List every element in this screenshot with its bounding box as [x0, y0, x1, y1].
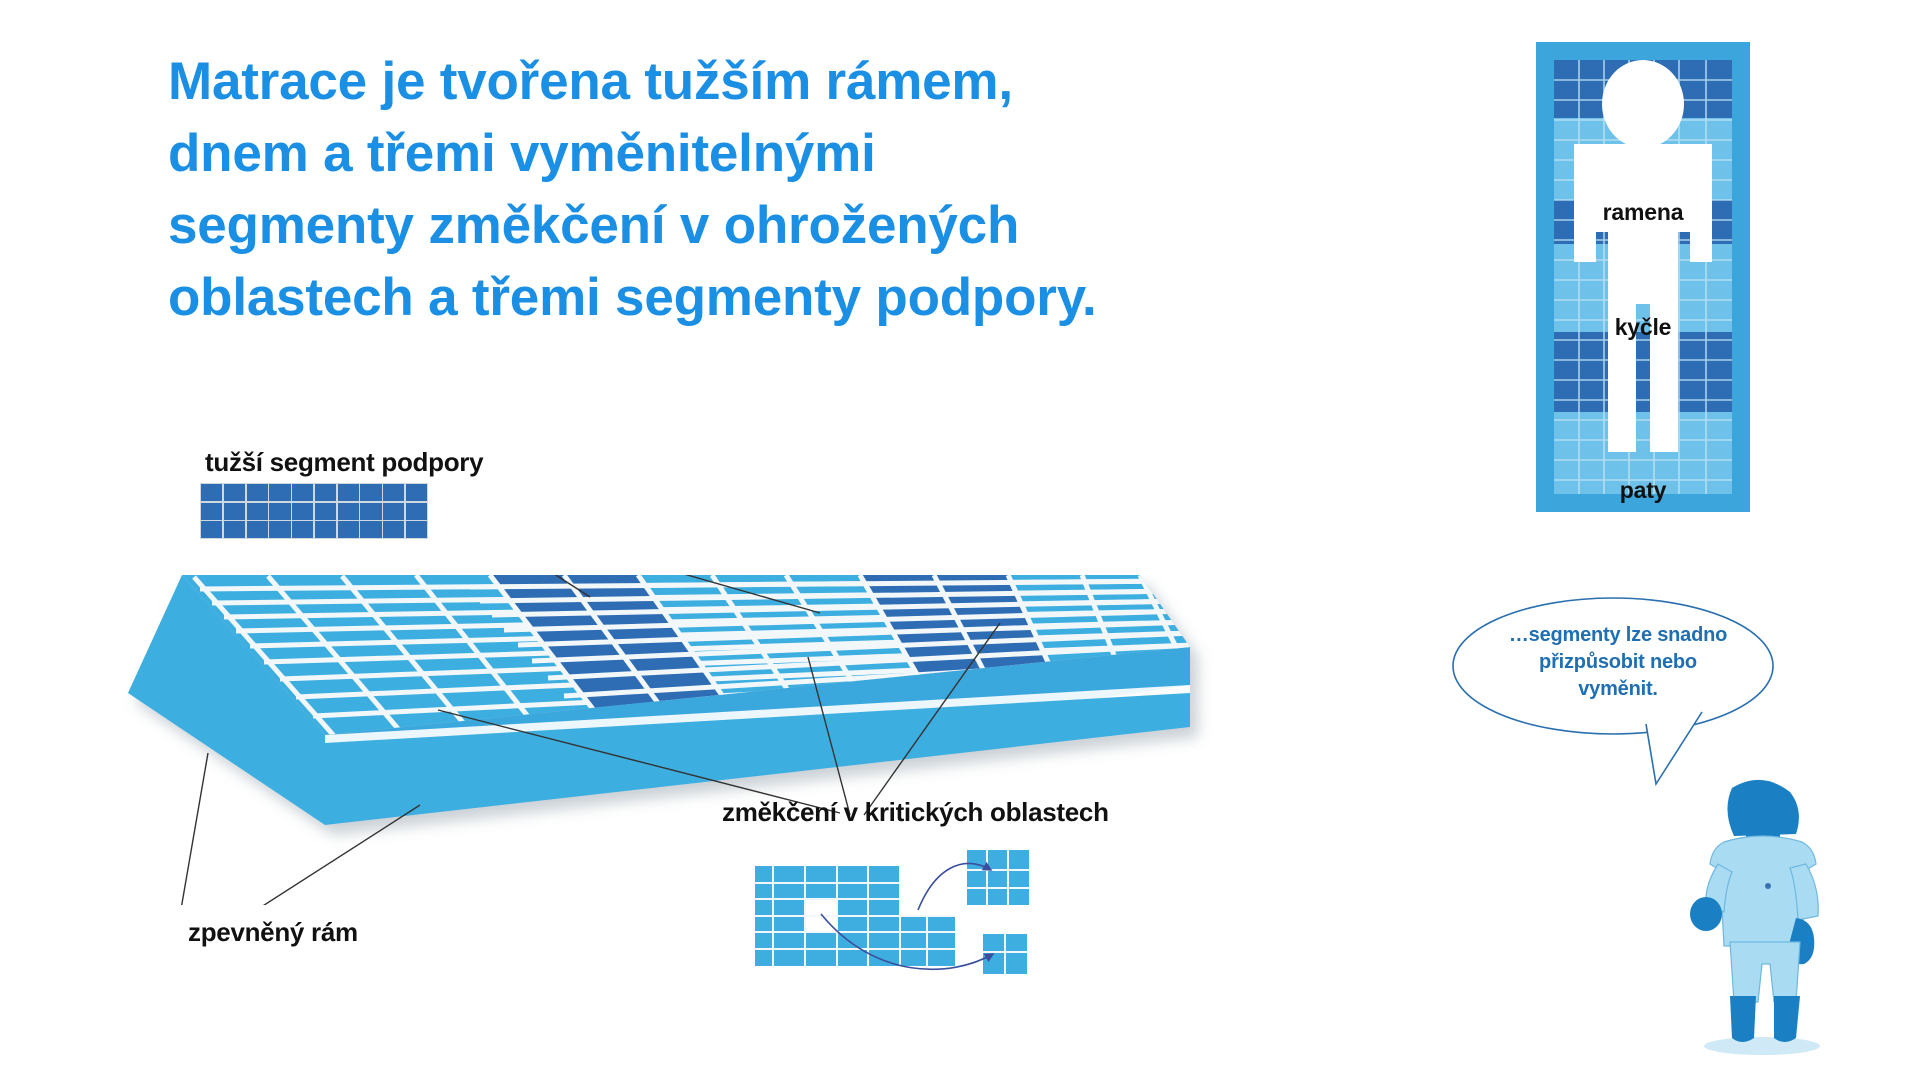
removable-segments-diagram [755, 848, 1055, 983]
swatch-cell [247, 503, 268, 520]
mattress-illustration [120, 575, 1230, 905]
swatch-cell [406, 484, 427, 501]
swatch-cell [360, 484, 381, 501]
swatch-cell [360, 521, 381, 538]
bubble-line-2: přizpůsobit nebo [1539, 651, 1697, 673]
zone-label-shoulders: ramena [1536, 199, 1750, 226]
bubble-line-1: …segmenty lze snadno [1509, 624, 1727, 646]
swatch-cell [338, 484, 359, 501]
firm-support-swatch [200, 483, 428, 539]
mascot-hand-left [1690, 897, 1722, 931]
swatch-cell [201, 521, 222, 538]
swatch-cell [383, 484, 404, 501]
swatch-cell [201, 484, 222, 501]
infographic-canvas: Matrace je tvořena tužším rámem, dnem a … [0, 0, 1920, 1080]
swatch-cell [315, 503, 336, 520]
swatch-cell [338, 521, 359, 538]
swatch-cell [292, 503, 313, 520]
mascot-leg-left [1730, 996, 1756, 1042]
swatch-cell [315, 484, 336, 501]
swatch-cell [269, 503, 290, 520]
segment-piece-top-right [967, 850, 1029, 905]
swatch-cell [406, 521, 427, 538]
swatch-cell [201, 503, 222, 520]
swatch-cell [247, 484, 268, 501]
headline-line-1: Matrace je tvořena tužším rámem, [168, 46, 1348, 118]
headline-line-4: oblastech a třemi segmenty podpory. [168, 262, 1348, 334]
swatch-cell [338, 503, 359, 520]
headline-line-2: dnem a třemi vyměnitelnými [168, 118, 1348, 190]
swatch-cell [383, 503, 404, 520]
speech-bubble-text: …segmenty lze snadno přizpůsobit nebo vy… [1480, 622, 1756, 703]
mascot-shadow [1704, 1037, 1820, 1055]
swatch-cell [360, 503, 381, 520]
page-title: Matrace je tvořena tužším rámem, dnem a … [168, 46, 1348, 334]
mascot-figure [1680, 768, 1850, 1058]
swatch-cell [292, 484, 313, 501]
swatch-cell [269, 484, 290, 501]
swatch-cell [269, 521, 290, 538]
swatch-cell [247, 521, 268, 538]
swatch-cell [224, 521, 245, 538]
leader-frame-a [180, 753, 208, 905]
swatch-cell [224, 503, 245, 520]
label-soft-zones: změkčení v kritických oblastech [722, 797, 1109, 828]
label-firm-support: tužší segment podpory [205, 447, 483, 478]
zone-label-heels: paty [1536, 477, 1750, 504]
headline-line-3: segmenty změkčení v ohrožených [168, 190, 1348, 262]
swatch-cell [383, 521, 404, 538]
speech-bubble: …segmenty lze snadno přizpůsobit nebo vy… [1450, 588, 1790, 788]
swatch-cell [224, 484, 245, 501]
mascot-logo [1765, 883, 1771, 889]
body-zone-panel: ramena kyčle paty [1536, 42, 1750, 512]
bubble-line-3: vyměnit. [1578, 678, 1658, 700]
mascot-leg-right [1774, 996, 1800, 1042]
swatch-cell [406, 503, 427, 520]
swatch-cell [315, 521, 336, 538]
swatch-cell [292, 521, 313, 538]
zone-label-hips: kyčle [1536, 314, 1750, 341]
label-frame: zpevněný rám [188, 917, 358, 948]
mascot-pants [1730, 942, 1800, 1002]
